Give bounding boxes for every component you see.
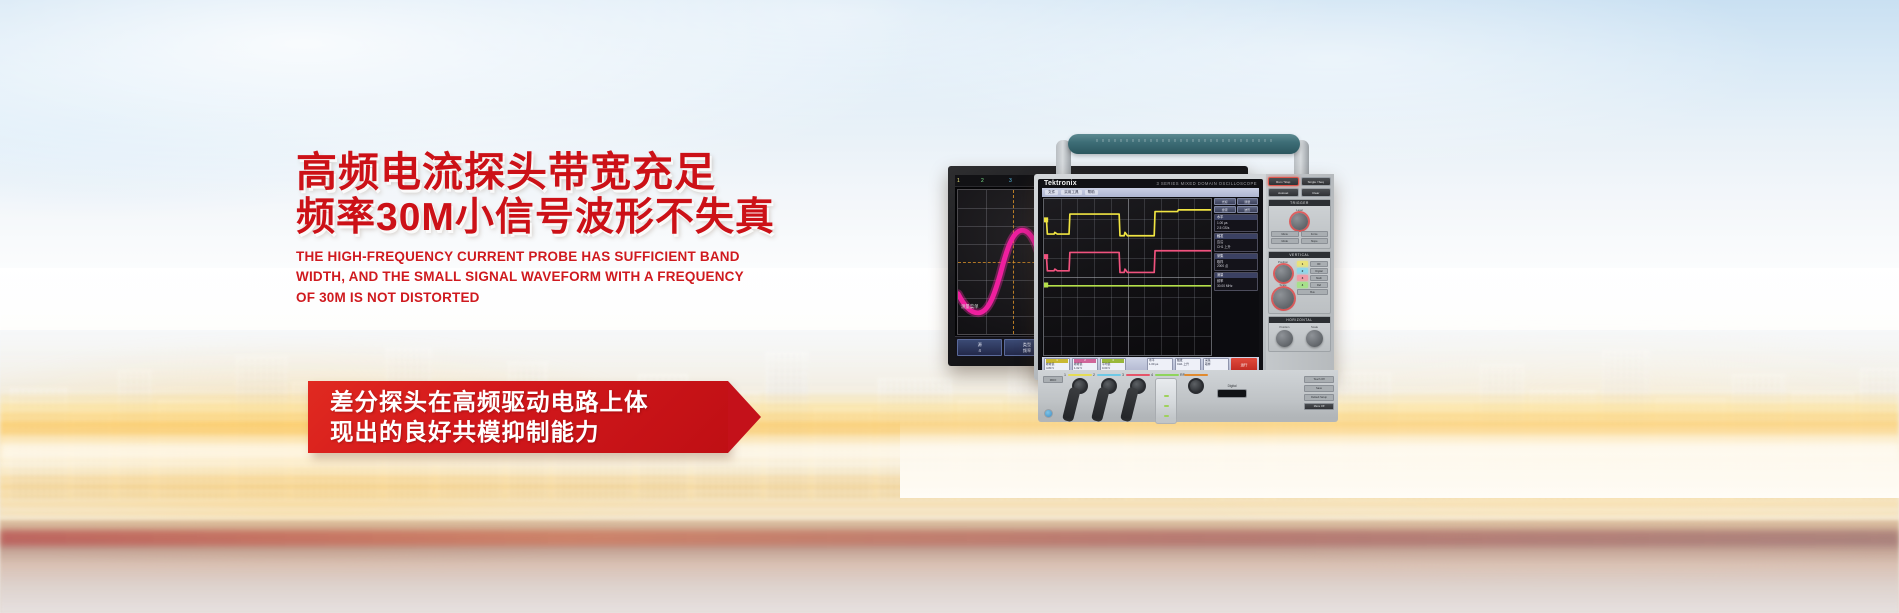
channel-1-button[interactable]: 1: [1297, 261, 1308, 267]
topbar-ch1: 1: [957, 178, 960, 184]
tektronix-side-rail: 光标 测量 搜索 波形 水平 1.00 μs 2: [1213, 197, 1259, 357]
probe-led-1: [1164, 395, 1169, 397]
trigger-level-knob[interactable]: [1291, 213, 1308, 230]
connector-side-buttons: Touch Off Save Default Setup Menu Off: [1304, 376, 1334, 412]
rf-jack[interactable]: [1188, 378, 1204, 394]
mdo-button[interactable]: MDO: [1043, 376, 1063, 383]
topbar-ch3: 3: [1009, 178, 1012, 184]
tektronix-screen: 文件 实用工具 帮助: [1042, 188, 1259, 372]
rail-button-row-1: 光标 测量: [1214, 198, 1258, 205]
english-subcopy: THE HIGH-FREQUENCY CURRENT PROBE HAS SUF…: [296, 247, 748, 309]
horizontal-position-knob[interactable]: [1276, 330, 1293, 347]
trigger-mode-button[interactable]: Mode: [1271, 238, 1299, 244]
headline-line-1: 高频电流探头带宽充足: [296, 152, 766, 194]
softkey-1[interactable]: 源 4: [957, 339, 1002, 356]
tektronix-display-area: Tektronix 3 SERIES MIXED DOMAIN OSCILLOS…: [1034, 174, 1266, 380]
rf-label: RF: [1180, 373, 1185, 377]
bnc-connector-ch3[interactable]: 3: [1126, 374, 1150, 394]
tektronix-model: 3 SERIES MIXED DOMAIN OSCILLOSCOPE: [1157, 181, 1257, 186]
trigger-section-title: TRIGGER: [1269, 200, 1330, 206]
bnc-ch3-color-bar: [1126, 374, 1150, 376]
horizontal-scale-label: Scale: [1306, 325, 1323, 329]
badge-trigger-line1: 边沿: [1217, 240, 1223, 244]
tektronix-front-panel: Run / Stop Single / Seq Autoset Clear TR…: [1266, 174, 1334, 380]
tektronix-brand: Tektronix: [1044, 180, 1077, 187]
rail-badge-acquire[interactable]: 采集 取样 2000 点: [1214, 253, 1258, 271]
run-control-row: Run / Stop Single / Seq: [1268, 177, 1331, 186]
digital-button[interactable]: Digital: [1310, 268, 1328, 274]
bnc-ch4-color-bar: [1155, 374, 1179, 376]
badge-measure-header: 测量: [1215, 273, 1257, 278]
badge-acquire-header: 采集: [1215, 254, 1257, 259]
menubar-file[interactable]: 文件: [1045, 190, 1058, 195]
bus-button[interactable]: Bus: [1297, 289, 1328, 295]
tektronix-menubar[interactable]: 文件 实用工具 帮助: [1042, 188, 1259, 197]
bnc-connector-ch2[interactable]: 2: [1097, 374, 1121, 394]
vertical-scale-knob[interactable]: [1273, 288, 1294, 309]
rail-button-row-2: 搜索 波形: [1214, 206, 1258, 213]
channel-2-button[interactable]: 2: [1297, 268, 1308, 274]
keysight-menu-label: 测量菜单: [961, 304, 979, 310]
badge-measure-line2: 30.00 MHz: [1217, 284, 1232, 288]
tektronix-chassis: Tektronix 3 SERIES MIXED DOMAIN OSCILLOS…: [1034, 174, 1334, 380]
vertical-channel-row-4: 4 Ref: [1297, 282, 1328, 288]
rail-search-button[interactable]: 搜索: [1214, 206, 1236, 213]
rail-badge-horizontal[interactable]: 水平 1.00 μs 2.5 GS/s: [1214, 214, 1258, 232]
channel-3-button[interactable]: 3: [1297, 275, 1308, 281]
vertical-position-label: Position: [1271, 260, 1295, 264]
current-probe-module: [1155, 378, 1177, 424]
bnc-ch2-number: 2: [1093, 373, 1095, 377]
trigger-button-row: Menu Force: [1271, 231, 1328, 237]
vertical-section: VERTICAL Position Scale 1 RF: [1268, 251, 1331, 314]
badge-horizontal-line1: 1.00 μs: [1217, 221, 1228, 225]
menubar-utility[interactable]: 实用工具: [1061, 190, 1081, 195]
tektronix-bezel: Tektronix 3 SERIES MIXED DOMAIN OSCILLOS…: [1038, 179, 1263, 376]
vertical-scale-label: Scale: [1271, 283, 1295, 287]
tektronix-oscilloscope: Tektronix 3 SERIES MIXED DOMAIN OSCILLOS…: [1030, 132, 1336, 380]
badge-measure-line1: 频率: [1217, 279, 1223, 283]
digital-port-label: Digital: [1217, 384, 1247, 388]
power-button[interactable]: [1044, 409, 1053, 418]
default-setup-button[interactable]: Default Setup: [1304, 394, 1334, 401]
rf-color-bar: [1184, 374, 1208, 376]
rail-measure-button[interactable]: 测量: [1237, 198, 1259, 205]
channel-4-button[interactable]: 4: [1297, 282, 1308, 288]
badge-acquire-line1: 取样: [1217, 260, 1223, 264]
topbar-ch2: 2: [981, 178, 984, 184]
tektronix-waveform-grid: [1043, 198, 1212, 356]
bnc-ch1-color-bar: [1068, 374, 1092, 376]
badge-acquire-line2: 2000 点: [1217, 264, 1228, 268]
rail-badge-measure[interactable]: 测量 频率 30.00 MHz: [1214, 272, 1258, 290]
light-streak-highlight: [0, 430, 1899, 476]
vertical-section-title: VERTICAL: [1269, 252, 1330, 258]
vertical-channel-row-3: 3 Math: [1297, 275, 1328, 281]
probe-led-3: [1164, 415, 1169, 417]
bnc-ch2-color-bar: [1097, 374, 1121, 376]
status-acquire-value: 取样: [1205, 362, 1211, 366]
promo-banner: 高频电流探头带宽充足 频率30M小信号波形不失真 THE HIGH-FREQUE…: [0, 0, 1899, 613]
bnc-connector-ch4[interactable]: 4: [1155, 374, 1179, 424]
save-button[interactable]: Save: [1304, 385, 1334, 392]
softkey-1-bottom: 4: [978, 348, 980, 353]
menubar-help[interactable]: 帮助: [1085, 190, 1098, 195]
badge-horizontal-line2: 2.5 GS/s: [1217, 226, 1229, 230]
tektronix-waveform-traces: [1044, 199, 1211, 299]
status-trigger-value: CH1 上升: [1177, 362, 1189, 366]
rail-cursor-button[interactable]: 光标: [1214, 198, 1236, 205]
trigger-level-label: Level: [1271, 208, 1328, 212]
horizontal-position-label: Position: [1276, 325, 1293, 329]
autoset-button[interactable]: Autoset: [1268, 188, 1299, 197]
trigger-menu-button[interactable]: Menu: [1271, 231, 1299, 237]
bnc-ch3-number: 3: [1122, 373, 1124, 377]
menu-off-button[interactable]: Menu Off: [1304, 403, 1334, 410]
touch-off-button[interactable]: Touch Off: [1304, 376, 1334, 383]
horizontal-scale-knob[interactable]: [1306, 330, 1323, 347]
horizontal-section: HORIZONTAL Position Scale: [1268, 316, 1331, 352]
badge-trigger-header: 触发: [1215, 234, 1257, 239]
single-seq-button[interactable]: Single / Seq: [1301, 177, 1332, 186]
rf-button[interactable]: RF: [1310, 261, 1328, 267]
vertical-channel-row-5: Bus: [1297, 289, 1328, 295]
digital-port-group: Digital: [1217, 384, 1247, 398]
bnc-ch4-number: 4: [1151, 373, 1153, 377]
trigger-section: TRIGGER Level Menu Force Mode Slope: [1268, 199, 1331, 249]
mdo-button-group: MDO: [1043, 376, 1063, 385]
ribbon-text: 差分探头在高频驱动电路上体 现出的良好共模抑制能力: [330, 387, 649, 447]
setup-control-row: Autoset Clear: [1268, 188, 1331, 197]
badge-horizontal-header: 水平: [1215, 215, 1257, 220]
headline-line-2: 频率30M小信号波形不失真: [296, 198, 766, 238]
badge-trigger-line2: CH1 上升: [1217, 245, 1231, 249]
copy-block: 高频电流探头带宽充足 频率30M小信号波形不失真 THE HIGH-FREQUE…: [296, 152, 766, 308]
tektronix-plot-area: 光标 测量 搜索 波形 水平 1.00 μs 2: [1042, 197, 1259, 357]
handle-grip: [1068, 134, 1300, 154]
ribbon-shape: 差分探头在高频驱动电路上体 现出的良好共模抑制能力: [308, 381, 728, 453]
tektronix-connector-strip: MDO 1 2 3: [1038, 370, 1338, 422]
road-foreground: [0, 520, 1899, 613]
trigger-button-row-2: Mode Slope: [1271, 238, 1328, 244]
digital-port-slot[interactable]: [1217, 389, 1247, 398]
status-horizontal-value: 1.00 μs: [1149, 362, 1158, 366]
clear-button[interactable]: Clear: [1301, 188, 1332, 197]
vertical-position-knob[interactable]: [1275, 265, 1292, 282]
horizontal-section-title: HORIZONTAL: [1269, 317, 1330, 323]
vertical-channel-row-2: 2 Digital: [1297, 268, 1328, 274]
trigger-force-button[interactable]: Force: [1301, 231, 1329, 237]
rf-connector[interactable]: RF: [1184, 374, 1208, 394]
rail-waveform-button[interactable]: 波形: [1237, 206, 1259, 213]
bnc-ch2-cable: [1091, 387, 1110, 423]
rail-badge-trigger[interactable]: 触发 边沿 CH1 上升: [1214, 233, 1258, 251]
trigger-slope-button[interactable]: Slope: [1301, 238, 1329, 244]
ref-button[interactable]: Ref: [1310, 282, 1328, 288]
vertical-channel-row-1: 1 RF: [1297, 261, 1328, 267]
run-stop-button[interactable]: Run / Stop: [1268, 177, 1299, 186]
bnc-connector-ch1[interactable]: 1: [1068, 374, 1092, 394]
probe-led-2: [1164, 405, 1169, 407]
bnc-ch1-number: 1: [1064, 373, 1066, 377]
bnc-ch1-cable: [1062, 387, 1081, 423]
ribbon-callout: 差分探头在高频驱动电路上体 现出的良好共模抑制能力: [308, 381, 728, 453]
math-button[interactable]: Math: [1310, 275, 1328, 281]
bnc-ch3-cable: [1120, 387, 1139, 423]
